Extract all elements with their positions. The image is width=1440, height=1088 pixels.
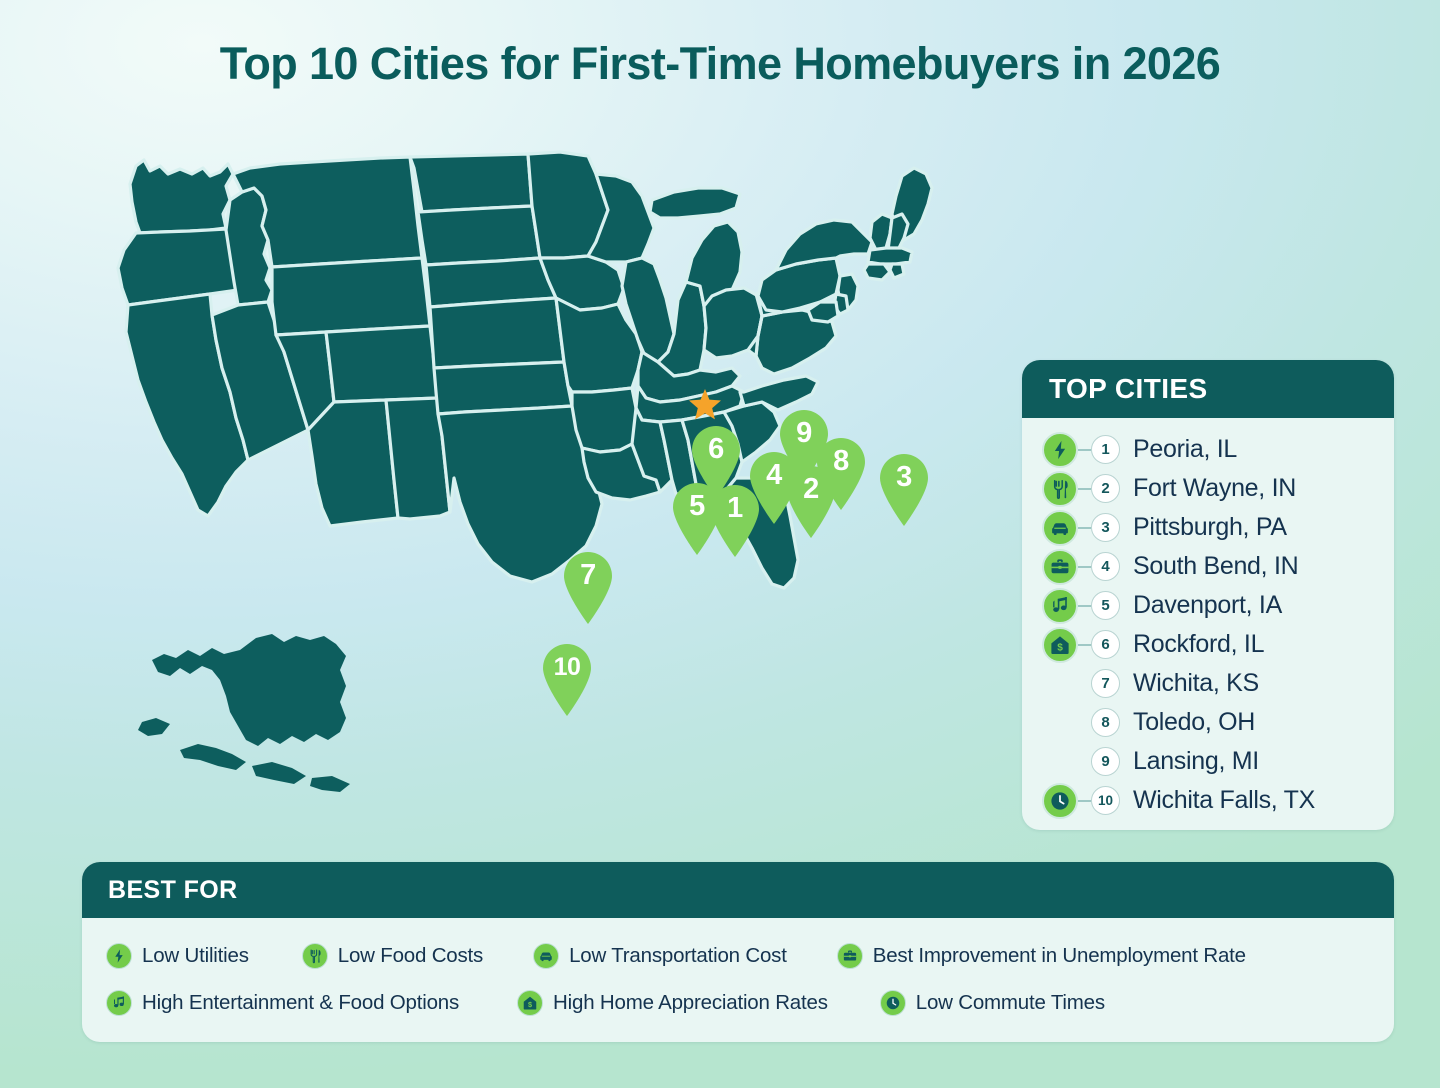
best-for-item: $ High Home Appreciation Rates [517,990,828,1016]
bolt-icon [1042,432,1078,468]
best-for-label: Low Commute Times [916,991,1105,1015]
city-rank-badge: 5 [1091,591,1120,620]
badge-connector [1078,722,1091,724]
badge-placeholder [1042,666,1078,702]
city-rank-badge: 8 [1091,708,1120,737]
car-icon [533,943,559,969]
top-cities-list: 1 Peoria, IL 2 Fort Wayne, IN 3 Pittsbur… [1022,418,1394,820]
city-rank-badge: 4 [1091,552,1120,581]
city-name: Lansing, MI [1133,747,1259,776]
city-list-item[interactable]: 4 South Bend, IN [1022,547,1394,586]
car-icon [1042,510,1078,546]
badge-connector [1078,566,1091,568]
city-name: South Bend, IN [1133,552,1298,581]
top-cities-header: TOP CITIES [1022,360,1394,418]
city-rank-badge: 7 [1091,669,1120,698]
utensils-icon [1042,471,1078,507]
best-for-item: Low Food Costs [302,943,483,969]
city-name: Toledo, OH [1133,708,1255,737]
map-pin-3[interactable]: 3 [875,450,933,526]
house-money-icon: $ [1042,627,1078,663]
svg-text:$: $ [528,1000,532,1009]
city-name: Fort Wayne, IN [1133,474,1296,503]
best-for-header: BEST FOR [82,862,1394,918]
city-list-item[interactable]: 8 Toledo, OH [1022,703,1394,742]
bolt-icon [106,943,132,969]
best-for-card: BEST FOR Low Utilities Low Food Costs Lo… [82,862,1394,1042]
map-pin-number: 9 [775,417,833,450]
best-for-label: Low Transportation Cost [569,944,787,968]
map-pin-9[interactable]: 9 [775,406,833,482]
best-for-label: High Entertainment & Food Options [142,991,459,1015]
page-title: Top 10 Cities for First-Time Homebuyers … [0,38,1440,90]
map-pin-number: 10 [538,651,596,684]
music-icon [1042,588,1078,624]
city-name: Wichita Falls, TX [1133,786,1315,815]
city-name: Davenport, IA [1133,591,1282,620]
utensils-icon [302,943,328,969]
badge-connector [1078,761,1091,763]
best-for-item: Low Transportation Cost [533,943,787,969]
badge-connector [1078,449,1091,451]
map-pin-number: 7 [559,559,617,592]
city-rank-badge: 3 [1091,513,1120,542]
badge-connector [1078,527,1091,529]
capital-star-icon [688,388,722,422]
badge-connector [1078,488,1091,490]
best-for-label: High Home Appreciation Rates [553,991,828,1015]
city-list-item[interactable]: 1 Peoria, IL [1022,430,1394,469]
city-list-item[interactable]: 9 Lansing, MI [1022,742,1394,781]
map-pin-number: 6 [687,433,745,466]
map-pin-7[interactable]: 7 [559,548,617,624]
city-list-item[interactable]: 10 Wichita Falls, TX [1022,781,1394,820]
city-name: Rockford, IL [1133,630,1264,659]
city-rank-badge: 6 [1091,630,1120,659]
map-islands [138,634,880,870]
best-for-item: Low Commute Times [880,990,1105,1016]
music-icon [106,990,132,1016]
city-name: Pittsburgh, PA [1133,513,1287,542]
best-for-row-1: Low Utilities Low Food Costs Low Transpo… [106,932,1394,979]
best-for-label: Low Food Costs [338,944,483,968]
best-for-row-2: High Entertainment & Food Options $ High… [106,979,1394,1026]
best-for-label: Low Utilities [142,944,249,968]
briefcase-icon [837,943,863,969]
house-money-icon: $ [517,990,543,1016]
clock-icon [1042,783,1078,819]
best-for-item: Low Utilities [106,943,249,969]
badge-connector [1078,605,1091,607]
city-rank-badge: 9 [1091,747,1120,776]
city-list-item[interactable]: $ 6 Rockford, IL [1022,625,1394,664]
city-list-item[interactable]: 3 Pittsburgh, PA [1022,508,1394,547]
clock-icon [880,990,906,1016]
best-for-item: Best Improvement in Unemployment Rate [837,943,1246,969]
city-rank-badge: 2 [1091,474,1120,503]
badge-connector [1078,800,1091,802]
city-list-item[interactable]: 7 Wichita, KS [1022,664,1394,703]
city-rank-badge: 1 [1091,435,1120,464]
best-for-item: High Entertainment & Food Options [106,990,459,1016]
badge-connector [1078,644,1091,646]
city-list-item[interactable]: 5 Davenport, IA [1022,586,1394,625]
city-name: Wichita, KS [1133,669,1259,698]
badge-placeholder [1042,744,1078,780]
city-list-item[interactable]: 2 Fort Wayne, IN [1022,469,1394,508]
city-name: Peoria, IL [1133,435,1237,464]
top-cities-card: TOP CITIES 1 Peoria, IL 2 Fort Wayne, IN… [1022,360,1394,830]
best-for-label: Best Improvement in Unemployment Rate [873,944,1246,968]
map-pin-10[interactable]: 10 [538,640,596,716]
map-pin-6[interactable]: 6 [687,422,745,498]
briefcase-icon [1042,549,1078,585]
map-pin-number: 3 [875,461,933,494]
badge-placeholder [1042,705,1078,741]
svg-text:$: $ [1057,642,1063,653]
city-rank-badge: 10 [1091,786,1120,815]
badge-connector [1078,683,1091,685]
